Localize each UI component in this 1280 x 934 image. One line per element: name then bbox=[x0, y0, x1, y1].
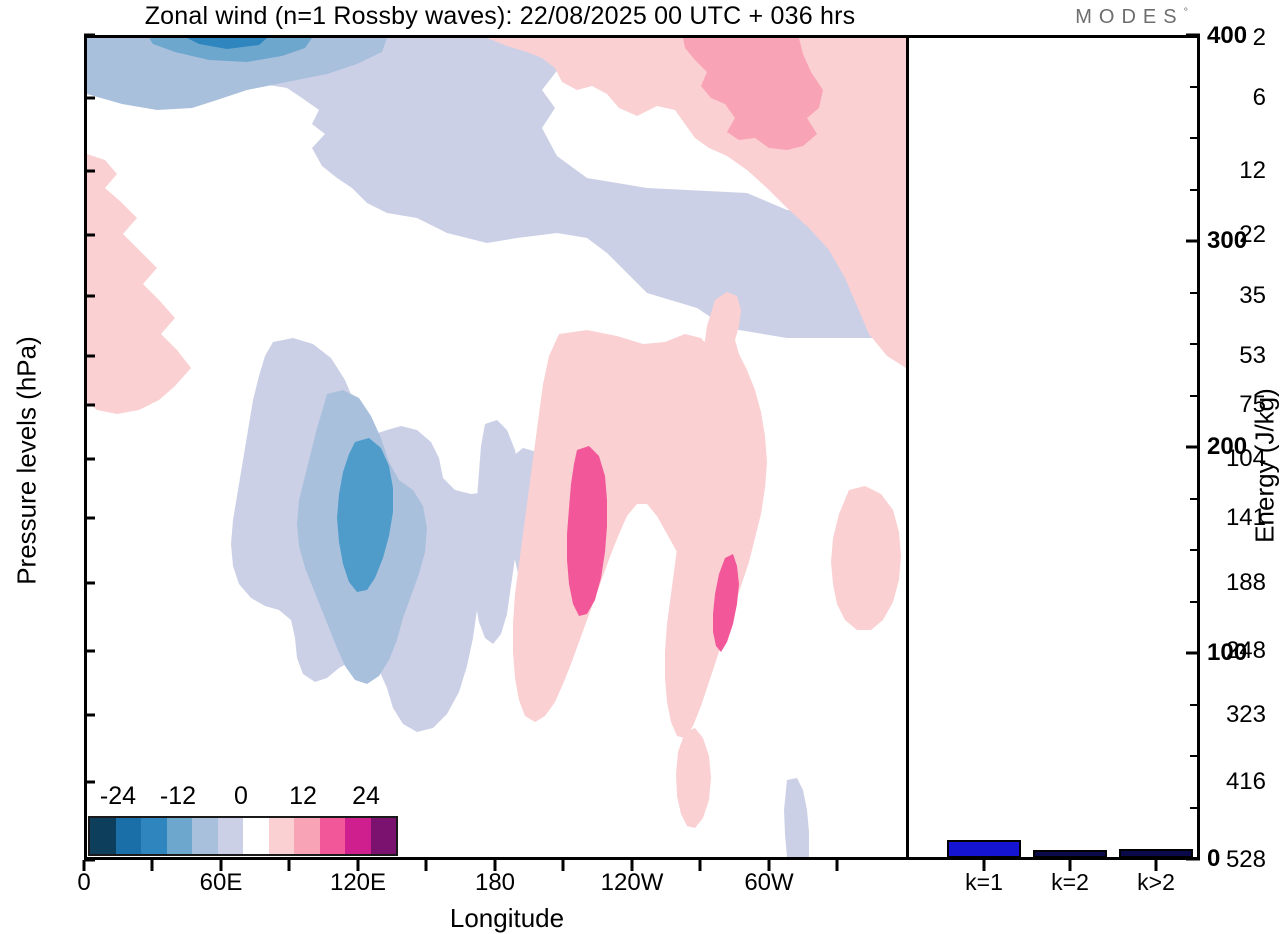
y-tickmark-left bbox=[84, 781, 95, 784]
colorbar-tick-label: -12 bbox=[160, 782, 196, 811]
y-tickmark-right-minor bbox=[1190, 395, 1200, 397]
x-axis-label: 120E bbox=[330, 869, 386, 897]
x-tickmark-minor bbox=[151, 860, 154, 871]
y-tickmark-left bbox=[84, 404, 95, 407]
colorbar-swatch-11 bbox=[371, 818, 397, 854]
y-tickmark-right bbox=[1186, 446, 1200, 449]
colorbar-tick-label: 24 bbox=[352, 782, 380, 811]
y-tickmark-left bbox=[84, 34, 95, 37]
modes-logo-text: MODES bbox=[1075, 6, 1183, 28]
x-axis-title: Longitude bbox=[297, 903, 717, 934]
energy-bar-chart bbox=[912, 38, 1197, 857]
x-axis-label: 180 bbox=[475, 869, 515, 897]
y-tickmark-right bbox=[1186, 240, 1200, 243]
y-tickmark-right-minor bbox=[1190, 292, 1200, 294]
modes-logo: MODES° bbox=[1075, 6, 1188, 29]
x-axis-label: 120W bbox=[601, 869, 664, 897]
panel-divider bbox=[906, 35, 909, 860]
colorbar-swatches bbox=[88, 816, 398, 856]
bar-kgt2 bbox=[1120, 850, 1192, 857]
y-axis-label-left: 323 bbox=[1226, 701, 1266, 729]
y-axis-title-right: Energy (J/kg) bbox=[1250, 256, 1280, 676]
bar-label-kgt2: k>2 bbox=[1137, 869, 1175, 896]
contour-plot-area bbox=[87, 38, 906, 857]
x-tickmark-minor bbox=[699, 860, 702, 871]
y-axis-title-left: Pressure levels (hPa) bbox=[12, 251, 43, 671]
x-axis-label: 60E bbox=[200, 869, 243, 897]
y-axis-label-left: 6 bbox=[1253, 84, 1266, 112]
y-axis-label-right: 100 bbox=[1207, 639, 1247, 667]
y-tickmark-right bbox=[1186, 858, 1200, 861]
x-axis-label: 60W bbox=[744, 869, 793, 897]
colorbar-tick-label: 0 bbox=[234, 782, 248, 811]
zonal-wind-contour-field bbox=[87, 38, 906, 857]
page-title: Zonal wind (n=1 Rossby waves): 22/08/202… bbox=[0, 2, 1000, 31]
y-tickmark-left bbox=[84, 714, 95, 717]
y-tickmark-right-minor bbox=[1190, 498, 1200, 500]
y-axis-label-right: 0 bbox=[1207, 845, 1220, 873]
colorbar-swatch-1 bbox=[116, 818, 142, 854]
y-tickmark-right-minor bbox=[1190, 549, 1200, 551]
y-tickmark-left bbox=[84, 170, 95, 173]
degree-mark-icon: ° bbox=[1184, 6, 1188, 18]
y-tickmark-left bbox=[84, 517, 95, 520]
x-tickmark-minor bbox=[288, 860, 291, 871]
bar-label-k2: k=2 bbox=[1051, 869, 1089, 896]
y-tickmark-right bbox=[1186, 34, 1200, 37]
y-tickmark-left bbox=[84, 859, 95, 862]
y-tickmark-left bbox=[84, 295, 95, 298]
colorbar-tick-label: 12 bbox=[289, 782, 317, 811]
colorbar-swatch-4 bbox=[192, 818, 218, 854]
y-axis-label-left: 416 bbox=[1226, 768, 1266, 796]
y-axis-label-left: 528 bbox=[1226, 846, 1266, 874]
colorbar-swatch-8 bbox=[294, 818, 320, 854]
colorbar-tick-label: -24 bbox=[100, 782, 136, 811]
x-tickmark-minor bbox=[562, 860, 565, 871]
colorbar-swatch-5 bbox=[218, 818, 244, 854]
colorbar-swatch-3 bbox=[167, 818, 193, 854]
y-tickmark-right-minor bbox=[1190, 189, 1200, 191]
x-tickmark-minor bbox=[836, 860, 839, 871]
colorbar-swatch-2 bbox=[141, 818, 167, 854]
colorbar bbox=[88, 816, 398, 856]
y-axis-label-right: 400 bbox=[1207, 22, 1247, 50]
y-tickmark-left bbox=[84, 355, 95, 358]
y-axis-label-right: 200 bbox=[1207, 433, 1247, 461]
y-axis-label-right: 300 bbox=[1207, 227, 1247, 255]
y-tickmark-right-minor bbox=[1190, 137, 1200, 139]
y-tickmark-right-minor bbox=[1190, 807, 1200, 809]
colorbar-swatch-9 bbox=[320, 818, 346, 854]
colorbar-swatch-7 bbox=[269, 818, 295, 854]
x-axis-label: 0 bbox=[77, 869, 90, 897]
colorbar-swatch-6 bbox=[243, 818, 269, 854]
y-tickmark-right-minor bbox=[1190, 601, 1200, 603]
y-tickmark-left bbox=[84, 458, 95, 461]
bar-label-k1: k=1 bbox=[965, 869, 1003, 896]
y-tickmark-left bbox=[84, 97, 95, 100]
y-tickmark-right bbox=[1186, 652, 1200, 655]
colorbar-swatch-10 bbox=[345, 818, 371, 854]
bar-k2 bbox=[1034, 851, 1106, 857]
y-tickmark-right-minor bbox=[1190, 343, 1200, 345]
x-tickmark-minor bbox=[425, 860, 428, 871]
y-tickmark-right-minor bbox=[1190, 755, 1200, 757]
y-tickmark-left bbox=[84, 582, 95, 585]
y-tickmark-left bbox=[84, 234, 95, 237]
colorbar-swatch-0 bbox=[90, 818, 116, 854]
y-tickmark-left bbox=[84, 650, 95, 653]
energy-bars-svg bbox=[912, 38, 1197, 857]
bar-k1 bbox=[948, 841, 1020, 857]
y-tickmark-right-minor bbox=[1190, 704, 1200, 706]
y-axis-label-left: 12 bbox=[1239, 157, 1266, 185]
y-axis-label-left: 2 bbox=[1253, 24, 1266, 52]
y-tickmark-right-minor bbox=[1190, 86, 1200, 88]
